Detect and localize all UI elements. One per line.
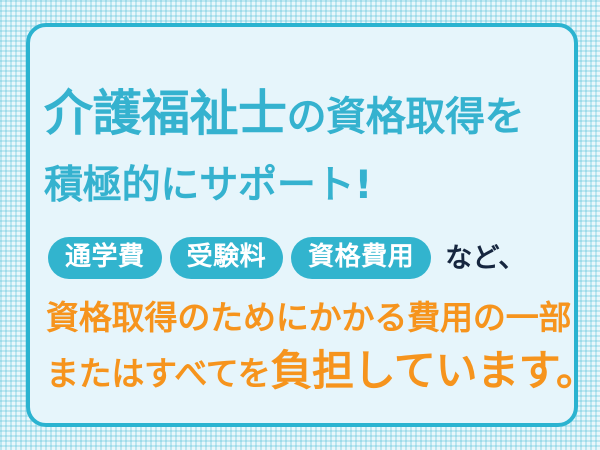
banner-content: 介護福祉士の資格取得を 積極的にサポート! 通学費 受験料 資格費用 など、 資… <box>44 23 574 427</box>
pill-tuition-fee: 通学費 <box>48 237 162 279</box>
headline-emphasis-qualification: 介護福祉士 <box>44 89 287 138</box>
body-line-2-emphasis: 負担しています。 <box>270 350 597 392</box>
body-line-1: 資格取得のためにかかる費用の一部 <box>46 301 571 334</box>
body-line-2: またはすべてを負担しています。 <box>46 350 598 392</box>
body-line-2-lead: またはすべてを <box>46 357 270 390</box>
headline-line-2: 積極的にサポート! <box>44 166 372 205</box>
pill-certification-fee: 資格費用 <box>291 237 431 279</box>
pill-exam-fee: 受験料 <box>170 237 284 279</box>
cost-pill-row: 通学費 受験料 資格費用 など、 <box>48 237 526 279</box>
headline-line-1-rest: の資格取得を <box>287 97 525 137</box>
pill-suffix-etc: など、 <box>445 245 525 272</box>
headline-line-1: 介護福祉士の資格取得を <box>44 89 524 138</box>
promotional-banner: 介護福祉士の資格取得を 積極的にサポート! 通学費 受験料 資格費用 など、 資… <box>0 0 600 450</box>
